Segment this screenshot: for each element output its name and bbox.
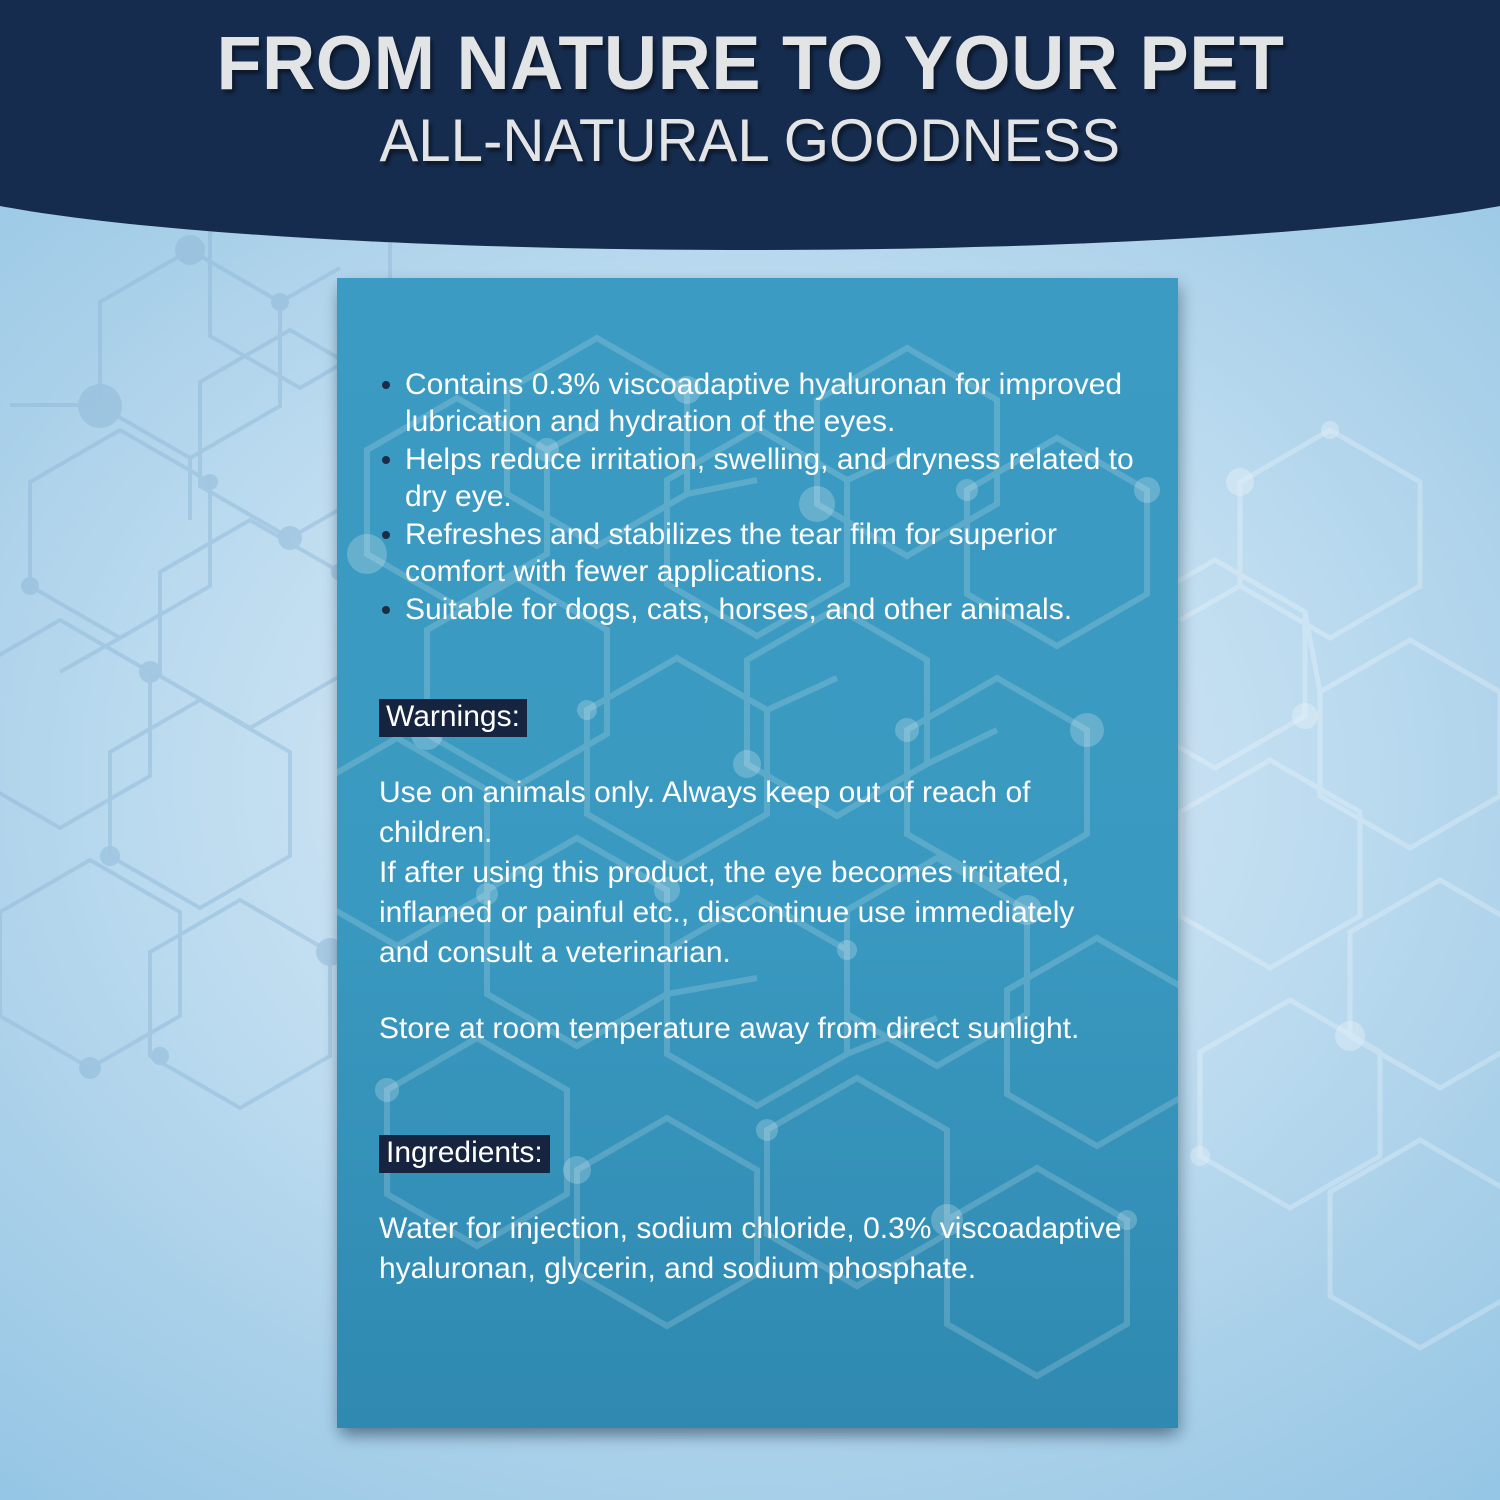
list-item: Suitable for dogs, cats, horses, and oth…	[379, 591, 1134, 628]
warnings-text-vet: and consult a veterinarian.	[379, 933, 1134, 973]
warnings-heading: Warnings:	[379, 699, 527, 737]
product-info-card: Contains 0.3% viscoadaptive hyaluronan f…	[337, 278, 1178, 1428]
warnings-text-secondary: If after using this product, the eye bec…	[379, 853, 1134, 933]
list-item: Helps reduce irritation, swelling, and d…	[379, 441, 1134, 515]
ingredients-text: Water for injection, sodium chloride, 0.…	[379, 1209, 1134, 1289]
page-subtitle: ALL-NATURAL GOODNESS	[380, 109, 1121, 173]
benefits-list: Contains 0.3% viscoadaptive hyaluronan f…	[379, 366, 1134, 628]
infographic-page: FROM NATURE TO YOUR PET ALL-NATURAL GOOD…	[0, 0, 1500, 1500]
list-item: Contains 0.3% viscoadaptive hyaluronan f…	[379, 366, 1134, 440]
card-content: Contains 0.3% viscoadaptive hyaluronan f…	[379, 366, 1134, 1289]
page-title: FROM NATURE TO YOUR PET	[216, 24, 1284, 103]
warnings-text-primary: Use on animals only. Always keep out of …	[379, 773, 1134, 853]
ingredients-heading: Ingredients:	[379, 1135, 550, 1173]
page-header: FROM NATURE TO YOUR PET ALL-NATURAL GOOD…	[0, 0, 1500, 250]
list-item: Refreshes and stabilizes the tear film f…	[379, 516, 1134, 590]
warnings-text-storage: Store at room temperature away from dire…	[379, 1009, 1134, 1049]
